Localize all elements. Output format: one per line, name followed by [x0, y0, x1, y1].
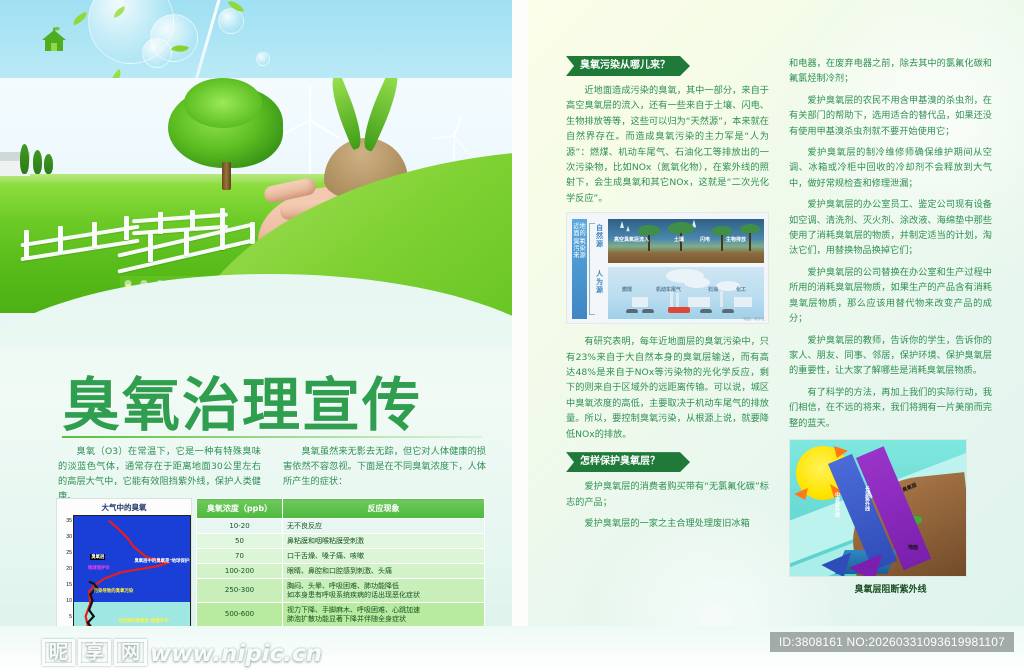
- infographic-credit: 制图：新华社: [743, 317, 765, 322]
- cell-symptom: 视力下降、手脚麻木、呼吸困难、心跳加速肺泡扩散功能显著下降并伴随全身症状: [283, 603, 485, 627]
- infographic-label-chem: 化工: [736, 286, 746, 293]
- home-leaf-icon: [40, 27, 68, 53]
- infographic-side-label: 近地面的臭氧污染来源: [572, 219, 587, 319]
- uv-label-uva: 长波紫外线: [864, 486, 871, 511]
- protect-item-6: 爱护臭氧层的教师，告诉你的学生，告诉你的家人、朋友、同事、邻居，保护环境、保护臭…: [789, 333, 992, 379]
- infographic-human-scene: 燃煤 机动车尾气 石油 化工: [608, 267, 764, 319]
- infographic-natural-scene: 高空臭氧层流入 土壤 闪电 生物排放: [608, 219, 764, 263]
- bubble-decoration: [142, 38, 172, 68]
- section-heading-sources: 臭氧污染从哪儿来？: [566, 56, 690, 76]
- chart-y-tick: 35: [66, 518, 72, 524]
- hero-photo: [0, 78, 512, 346]
- bubble-decoration: [256, 52, 270, 66]
- intro-text-left: 臭氧（O3）在常温下，它是一种有特殊臭味的淡蓝色气体，通常存在于距离地面30公里…: [58, 444, 261, 504]
- chart-annotation-ozone-layer: 臭氧层: [90, 554, 105, 560]
- protect-item-1-cont: 和电器，在废弃电器之前，除去其中的氯氟化碳和氟氯烃制冷剂；: [789, 56, 992, 87]
- intro-columns: 臭氧（O3）在常温下，它是一种有特殊臭味的淡蓝色气体，通常存在于距离地面30公里…: [58, 444, 486, 504]
- uv-figure-caption: 臭氧层阻断紫外线: [789, 577, 992, 595]
- cell-concentration: 500-600: [197, 603, 283, 627]
- protect-item-7: 有了科学的方法，再加上我们的实际行动，我们相信，在不远的将来，我们将拥有一片美丽…: [789, 385, 992, 431]
- infographic-bracket: [589, 223, 595, 315]
- chart-annotation-health-killer: 近地面的臭氧是“健康杀手”: [118, 618, 171, 624]
- cell-concentration: 10-20: [197, 519, 283, 534]
- cell-symptom: 眼睛、鼻腔和口腔感到刺激、头痛: [283, 564, 485, 579]
- chart-annotation-pollution: 污染导致的臭氧污染: [94, 588, 134, 594]
- title-divider: [62, 436, 482, 438]
- cell-symptom: 鼻粘膜和咽喉粘膜受刺激: [283, 534, 485, 549]
- infographic-tag-natural: 自然源: [596, 225, 605, 249]
- cypress-tree: [33, 150, 42, 174]
- watermark-url: www.nipic.cn: [150, 642, 322, 666]
- table-row: 10-20无不良反应: [197, 519, 485, 534]
- protect-item-4: 爱护臭氧层的办公室员工、鉴定公司现有设备如空调、清洗剂、灭火剂、涂改液、海绵垫中…: [789, 197, 992, 259]
- uv-label-ground: 地面: [908, 544, 918, 551]
- table-col-concentration: 臭氧浓度（ppb）: [197, 499, 283, 519]
- cell-concentration: 100-200: [197, 564, 283, 579]
- infographic-tag-human: 人为源: [596, 271, 605, 295]
- intro-text-right: 臭氧虽然来无影去无踪，但它对人体健康的损害依然不容忽视。下面是在不同臭氧浓度下，…: [283, 444, 486, 489]
- chart-series-svg: [74, 516, 190, 632]
- cell-symptom: 胸闷、头晕、呼吸困难、肺功能降低如本身患有呼吸系统疾病的话出现恶化症状: [283, 579, 485, 603]
- chart-annotation-earth-umbrella: 臭氧层中的臭氧是“地球保护伞”: [134, 558, 185, 564]
- uv-blocking-illustration: 中波紫外线 长波紫外线 臭氧层 地面: [789, 439, 967, 577]
- infographic-label-coal: 燃煤: [622, 286, 632, 293]
- cell-concentration: 50: [197, 534, 283, 549]
- chart-annotation-shield: 地球保护伞: [88, 565, 110, 571]
- table-row: 70口干舌燥、嗓子痛、咳嗽: [197, 549, 485, 564]
- uv-figure-wrap: 中波紫外线 长波紫外线 臭氧层 地面 臭氧层阻断紫外线: [789, 439, 992, 595]
- right-column-2: 和电器，在废弃电器之前，除去其中的氯氟化碳和氟氯烃制冷剂； 爱护臭氧层的农民不用…: [789, 56, 992, 595]
- cell-concentration: 250-300: [197, 579, 283, 603]
- brochure-spread: 臭氧治理宣传 臭氧（O3）在常温下，它是一种有特殊臭味的淡蓝色气体，通常存在于距…: [0, 0, 1024, 672]
- infographic-label-bio: 生物排放: [726, 236, 746, 243]
- protect-item-3: 爱护臭氧层的制冷维修师确保维护期间从空调、冰箱或冷柜中回收的冷却剂不会释放到大气…: [789, 145, 992, 191]
- protect-item-1-part: 爱护臭氧层的一家之主合理处理废旧冰箱: [566, 516, 769, 531]
- site-watermark: 昵 享 网 www.nipic.cn: [42, 639, 322, 666]
- protect-item-2: 爱护臭氧层的农民不用含甲基溴的杀虫剂，在有关部门的帮助下，选用适合的替代品，如果…: [789, 93, 992, 139]
- chart-y-tick: 10: [66, 598, 72, 604]
- section-heading-protect: 怎样保护臭氧层？: [566, 452, 690, 472]
- watermark-char-2: 享: [78, 639, 111, 666]
- chart-y-tick: 25: [66, 550, 72, 556]
- cypress-tree: [20, 144, 29, 174]
- table-row: 250-300胸闷、头晕、呼吸困难、肺功能降低如本身患有呼吸系统疾病的话出现恶化…: [197, 579, 485, 603]
- chart-y-axis: 05101520253035: [59, 515, 73, 633]
- infographic-label-inflow: 高空臭氧层流入: [614, 236, 649, 243]
- infographic-label-lightning: 闪电: [700, 236, 710, 243]
- id-badge: ID:3808161 NO:20260331093619981107: [770, 632, 1014, 652]
- right-page-columns: 臭氧污染从哪儿来？ 近地面造成污染的臭氧，其中一部分，来自于高空臭氧层的流入，还…: [566, 56, 992, 595]
- intro-column-right: 臭氧虽然来无影去无踪，但它对人体健康的损害依然不容忽视。下面是在不同臭氧浓度下，…: [283, 444, 486, 504]
- table-row: 50鼻粘膜和咽喉粘膜受刺激: [197, 534, 485, 549]
- left-page: 臭氧治理宣传 臭氧（O3）在常温下，它是一种有特殊臭味的淡蓝色气体，通常存在于距…: [0, 0, 512, 660]
- chart-series-line: [83, 521, 167, 632]
- infographic-label-soil: 土壤: [674, 236, 684, 243]
- chart-y-tick: 30: [66, 534, 72, 540]
- cell-concentration: 70: [197, 549, 283, 564]
- watermark-char-3: 网: [114, 639, 147, 666]
- cell-symptom: 无不良反应: [283, 519, 485, 534]
- table-row: 100-200眼睛、鼻腔和口腔感到刺激、头痛: [197, 564, 485, 579]
- page-title: 臭氧治理宣传: [62, 374, 482, 436]
- right-column-1: 臭氧污染从哪儿来？ 近地面造成污染的臭氧，其中一部分，来自于高空臭氧层的流入，还…: [566, 56, 769, 595]
- intro-column-left: 臭氧（O3）在常温下，它是一种有特殊臭味的淡蓝色气体，通常存在于距离地面30公里…: [58, 444, 261, 504]
- right-page: 臭氧污染从哪儿来？ 近地面造成污染的臭氧，其中一部分，来自于高空臭氧层的流入，还…: [528, 0, 1024, 660]
- protect-item-0: 爱护臭氧层的消费者购买带有“无氯氟化碳”标志的产品；: [566, 479, 769, 510]
- chart-y-tick: 15: [66, 582, 72, 588]
- cell-symptom: 口干舌燥、嗓子痛、咳嗽: [283, 549, 485, 564]
- chart-plot-area: 臭氧层 地球保护伞 臭氧层中的臭氧是“地球保护伞” 污染导致的臭氧污染 近地面的…: [73, 515, 191, 633]
- big-tree-canopy: [168, 86, 283, 168]
- protect-item-5: 爱护臭氧层的公司替换在办公室和生产过程中所用的消耗臭氧层物质，如果生产的产品含有…: [789, 265, 992, 327]
- cypress-tree: [44, 154, 53, 174]
- table-header-row: 臭氧浓度（ppb） 反应现象: [197, 499, 485, 519]
- pollution-sources-infographic: 近地面的臭氧污染来源 自然源 人为源: [566, 212, 769, 324]
- chart-title: 大气中的臭氧: [59, 501, 189, 515]
- section1-body: 近地面造成污染的臭氧，其中一部分，来自于高空臭氧层的流入，还有一些来自于土壤、闪…: [566, 83, 769, 206]
- uv-label-uvb: 中波紫外线: [834, 492, 841, 517]
- table-col-symptom: 反应现象: [283, 499, 485, 519]
- chart-body: 05101520253035 臭氧层 地球保护伞 臭氧层中的臭氧是“地球保护伞”…: [59, 515, 191, 633]
- section1-body2: 有研究表明，每年近地面层的臭氧污染中，只有23%来自于大自然本身的臭氧层输送，而…: [566, 334, 769, 442]
- chart-y-tick: 20: [66, 566, 72, 572]
- infographic-label-vehicle: 机动车尾气: [656, 286, 681, 293]
- watermark-char-1: 昵: [42, 639, 75, 666]
- chart-y-tick: 5: [69, 614, 72, 620]
- table-row: 500-600视力下降、手脚麻木、呼吸困难、心跳加速肺泡扩散功能显著下降并伴随全…: [197, 603, 485, 627]
- infographic-label-oil: 石油: [708, 286, 718, 293]
